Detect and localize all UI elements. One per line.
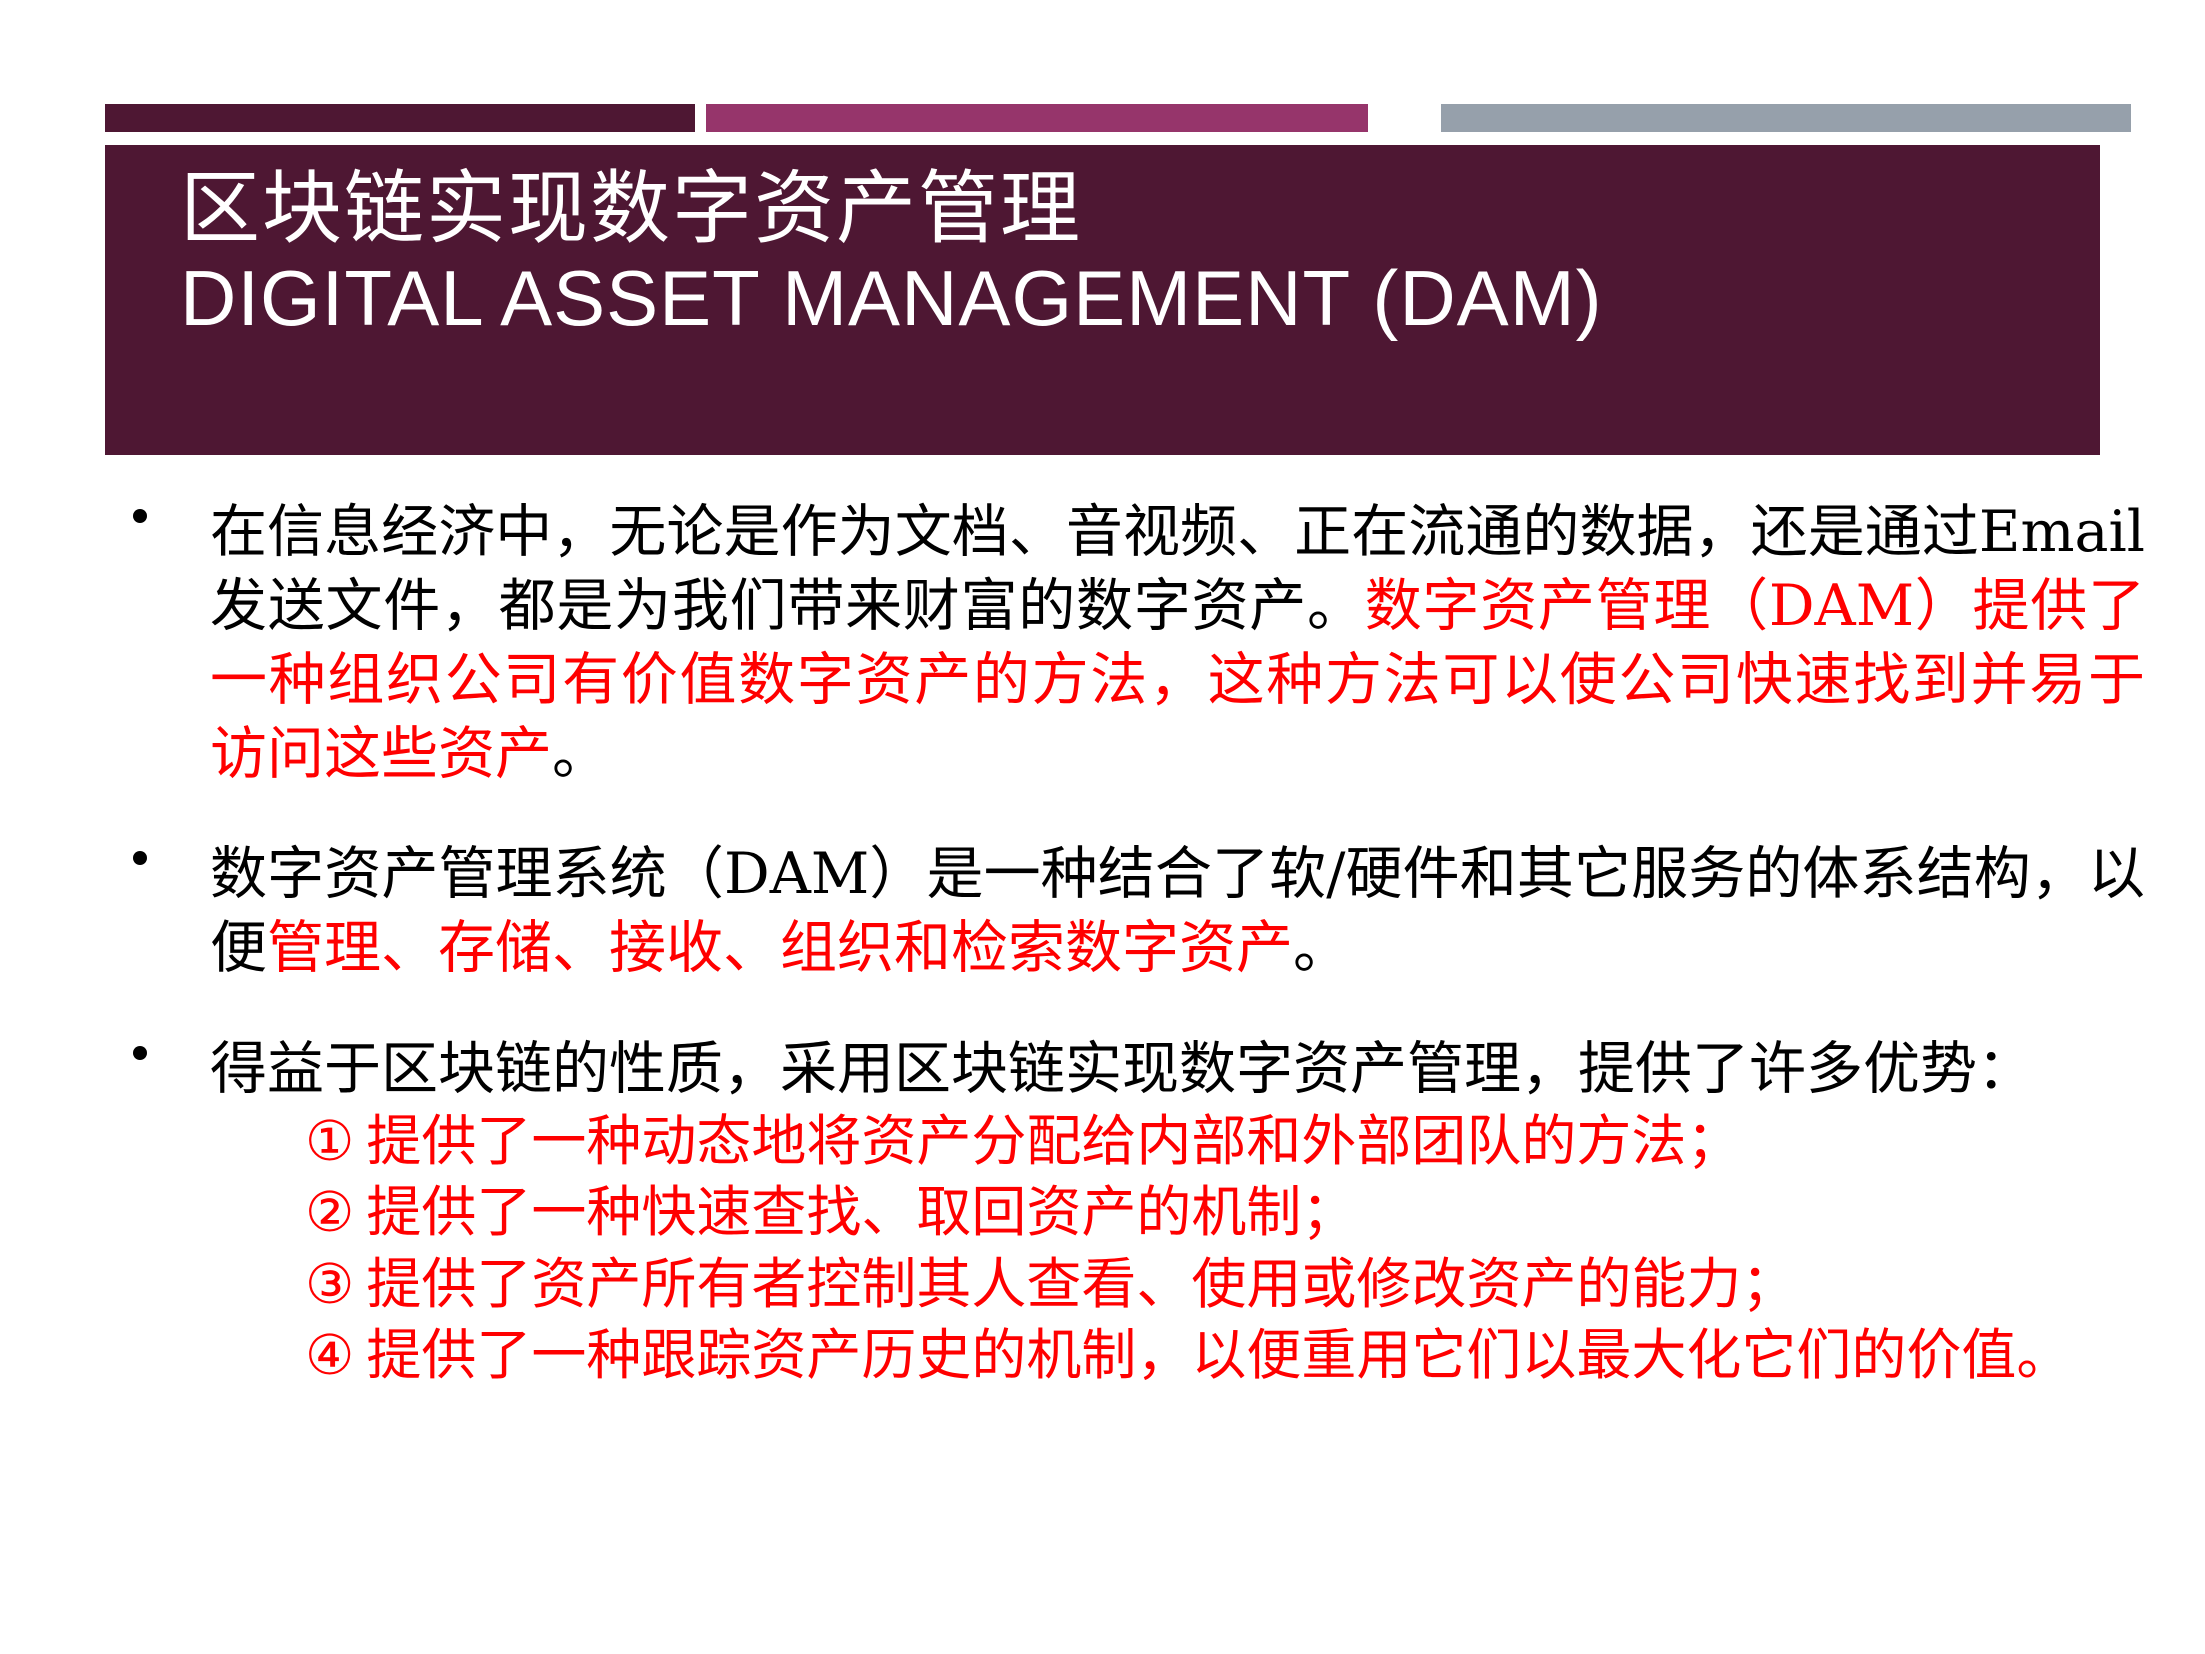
- bullet-paragraph-3: 得益于区块链的性质，采用区块链实现数字资产管理，提供了许多优势：: [130, 1032, 2145, 1106]
- advantages-list: ①提供了一种动态地将资产分配给内部和外部团队的方法； ②提供了一种快速查找、取回…: [130, 1106, 2145, 1392]
- decorative-bar-magenta: [706, 104, 1368, 132]
- bullet-item-2: 数字资产管理系统（DAM）是一种结合了软/硬件和其它服务的体系结构，以便管理、存…: [0, 837, 2205, 985]
- advantage-text-1: 提供了一种动态地将资产分配给内部和外部团队的方法；: [366, 1109, 1741, 1173]
- bullet-1-segment-3: 。: [552, 721, 609, 787]
- advantage-item-3: ③提供了资产所有者控制其人查看、使用或修改资产的能力；: [305, 1249, 2145, 1321]
- bullet-3-segment-1: 得益于区块链的性质，采用区块链实现数字资产管理，提供了许多优势：: [210, 1036, 2034, 1102]
- bullet-item-1: 在信息经济中，无论是作为文档、音视频、正在流通的数据，还是通过Email发送文件…: [0, 495, 2205, 791]
- bullet-item-3: 得益于区块链的性质，采用区块链实现数字资产管理，提供了许多优势： ①提供了一种动…: [0, 1032, 2205, 1392]
- decorative-bar-group: [0, 104, 2205, 132]
- bullet-marker-icon: [133, 509, 147, 523]
- bullet-2-segment-2: 管理、存储、接收、组织和检索数字资产: [267, 915, 1293, 981]
- advantage-item-4: ④提供了一种跟踪资产历史的机制，以便重用它们以最大化它们的价值。: [305, 1320, 2145, 1392]
- advantage-text-4: 提供了一种跟踪资产历史的机制，以便重用它们以最大化它们的价值。: [366, 1323, 2071, 1387]
- advantage-item-2: ②提供了一种快速查找、取回资产的机制；: [305, 1177, 2145, 1249]
- bullet-2-segment-3: 。: [1293, 915, 1350, 981]
- advantage-marker-4: ④: [305, 1323, 354, 1387]
- decorative-bar-gray: [1441, 104, 2131, 132]
- decorative-bar-dark: [105, 104, 695, 132]
- advantage-marker-3: ③: [305, 1252, 354, 1316]
- bullet-paragraph-1: 在信息经济中，无论是作为文档、音视频、正在流通的数据，还是通过Email发送文件…: [130, 495, 2145, 791]
- advantage-item-1: ①提供了一种动态地将资产分配给内部和外部团队的方法；: [305, 1106, 2145, 1178]
- advantage-marker-2: ②: [305, 1180, 354, 1244]
- bullet-paragraph-2: 数字资产管理系统（DAM）是一种结合了软/硬件和其它服务的体系结构，以便管理、存…: [130, 837, 2145, 985]
- advantage-text-3: 提供了资产所有者控制其人查看、使用或修改资产的能力；: [366, 1252, 1796, 1316]
- slide-body: 在信息经济中，无论是作为文档、音视频、正在流通的数据，还是通过Email发送文件…: [0, 495, 2205, 1392]
- advantage-text-2: 提供了一种快速查找、取回资产的机制；: [366, 1180, 1356, 1244]
- bullet-marker-icon: [133, 1046, 147, 1060]
- slide-title-banner: 区块链实现数字资产管理 DIGITAL ASSET MANAGEMENT (DA…: [105, 145, 2100, 455]
- slide-title-chinese: 区块链实现数字资产管理: [180, 167, 2100, 251]
- advantage-marker-1: ①: [305, 1109, 354, 1173]
- slide-title-english: DIGITAL ASSET MANAGEMENT (DAM): [180, 251, 2100, 346]
